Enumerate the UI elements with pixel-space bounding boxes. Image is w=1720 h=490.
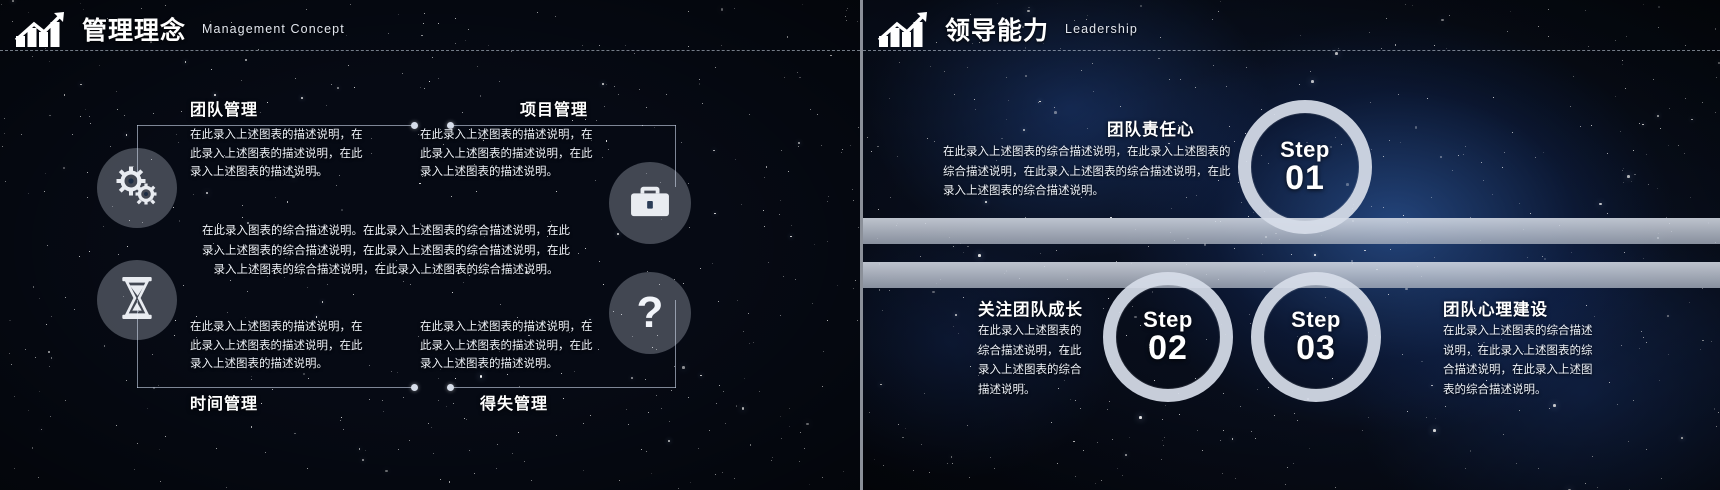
briefcase-icon	[629, 183, 671, 224]
item-body-team-responsibility: 在此录入上述图表的综合描述说明，在此录入上述图表的综合描述说明，在此录入上述图表…	[943, 143, 1233, 202]
slide-header-right: 领导能力 Leadership	[863, 0, 1720, 58]
bar-chart-arrow-icon	[14, 10, 74, 48]
gears-icon-circle[interactable]	[97, 148, 177, 228]
item-title-gain-loss-management: 得失管理	[480, 390, 548, 414]
step-word-01: Step	[1280, 138, 1330, 161]
question-mark-icon-circle[interactable]: ?	[609, 272, 691, 354]
question-mark-icon: ?	[637, 291, 664, 335]
gears-icon	[115, 164, 159, 213]
page-subtitle: Leadership	[1065, 22, 1138, 36]
item-title-time-management: 时间管理	[190, 390, 258, 414]
hourglass-icon	[119, 276, 155, 325]
item-body-team-management: 在此录入上述图表的描述说明，在此录入上述图表的描述说明，在此录入上述图表的描述说…	[190, 126, 370, 182]
step-word-03: Step	[1291, 308, 1341, 331]
step-number-03: 03	[1296, 331, 1336, 367]
item-body-time-management: 在此录入上述图表的描述说明，在此录入上述图表的描述说明，在此录入上述图表的描述说…	[190, 318, 370, 374]
slide-leadership: 领导能力 Leadership 团队责任心 在此录入上述图表的综合描述说明，在此…	[860, 0, 1720, 490]
item-body-team-growth: 在此录入上述图表的综合描述说明，在此录入上述图表的综合描述说明。	[978, 322, 1088, 400]
item-title-project-management: 项目管理	[520, 96, 588, 120]
step-circle-03[interactable]: Step 03	[1251, 272, 1381, 402]
item-title-team-psychology: 团队心理建设	[1443, 296, 1548, 320]
page-subtitle: Management Concept	[202, 22, 345, 36]
slide-deck: 管理理念 Management Concept	[0, 0, 1720, 490]
slide-management-concept: 管理理念 Management Concept	[0, 0, 860, 490]
page-title: 领导能力	[945, 11, 1049, 47]
hourglass-icon-circle[interactable]	[97, 260, 177, 340]
item-title-team-growth: 关注团队成长	[978, 296, 1083, 320]
step-word-02: Step	[1143, 308, 1193, 331]
item-body-gain-loss-management: 在此录入上述图表的描述说明，在此录入上述图表的描述说明，在此录入上述图表的描述说…	[420, 318, 600, 374]
briefcase-icon-circle[interactable]	[609, 162, 691, 244]
item-title-team-responsibility: 团队责任心	[1107, 116, 1195, 140]
item-title-team-management: 团队管理	[190, 96, 258, 120]
center-description: 在此录入图表的综合描述说明。在此录入上述图表的综合描述说明，在此录入上述图表的综…	[200, 222, 572, 281]
slide-header-left: 管理理念 Management Concept	[0, 0, 860, 58]
starfield-background-right	[863, 0, 1720, 490]
page-title: 管理理念	[82, 11, 186, 47]
item-body-project-management: 在此录入上述图表的描述说明，在此录入上述图表的描述说明，在此录入上述图表的描述说…	[420, 126, 600, 182]
step-circle-02[interactable]: Step 02	[1103, 272, 1233, 402]
step-circle-01[interactable]: Step 01	[1238, 100, 1372, 234]
step-number-01: 01	[1285, 161, 1325, 197]
item-body-team-psychology: 在此录入上述图表的综合描述说明，在此录入上述图表的综合描述说明，在此录入上述图表…	[1443, 322, 1593, 400]
step-number-02: 02	[1148, 331, 1188, 367]
bar-chart-arrow-icon	[877, 10, 937, 48]
